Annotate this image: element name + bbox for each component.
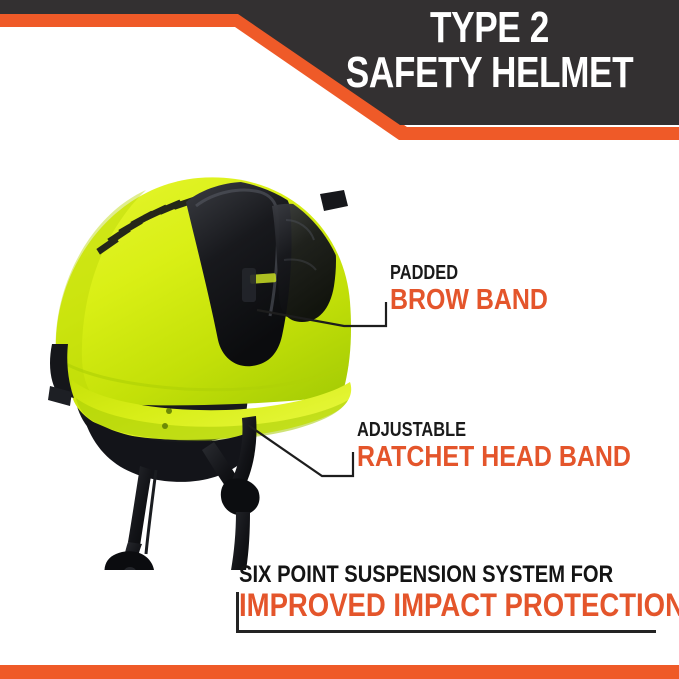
bottom-caption-underline xyxy=(236,630,656,633)
callout-ratchet-head-band: ADJUSTABLE RATCHET HEAD BAND xyxy=(357,420,675,472)
footer-orange-bar xyxy=(0,665,679,679)
bottom-caption-tick xyxy=(236,592,239,630)
callout-ratchet-head-band-title: RATCHET HEAD BAND xyxy=(357,442,631,472)
callout-ratchet-head-band-subtitle: ADJUSTABLE xyxy=(357,420,618,441)
product-infographic: TYPE 2 SAFETY HELMET xyxy=(0,0,679,679)
bottom-caption: SIX POINT SUSPENSION SYSTEM FOR IMPROVED… xyxy=(239,562,679,623)
bottom-caption-title: IMPROVED IMPACT PROTECTION xyxy=(239,589,679,623)
leader-line-ratchet-head-band xyxy=(248,425,353,476)
bottom-caption-subtitle: SIX POINT SUSPENSION SYSTEM FOR xyxy=(239,562,675,587)
callout-brow-band-title: BROW BAND xyxy=(390,285,548,315)
callout-brow-band: PADDED BROW BAND xyxy=(390,263,574,315)
leader-line-brow-band xyxy=(257,302,386,326)
callout-brow-band-subtitle: PADDED xyxy=(390,263,541,284)
